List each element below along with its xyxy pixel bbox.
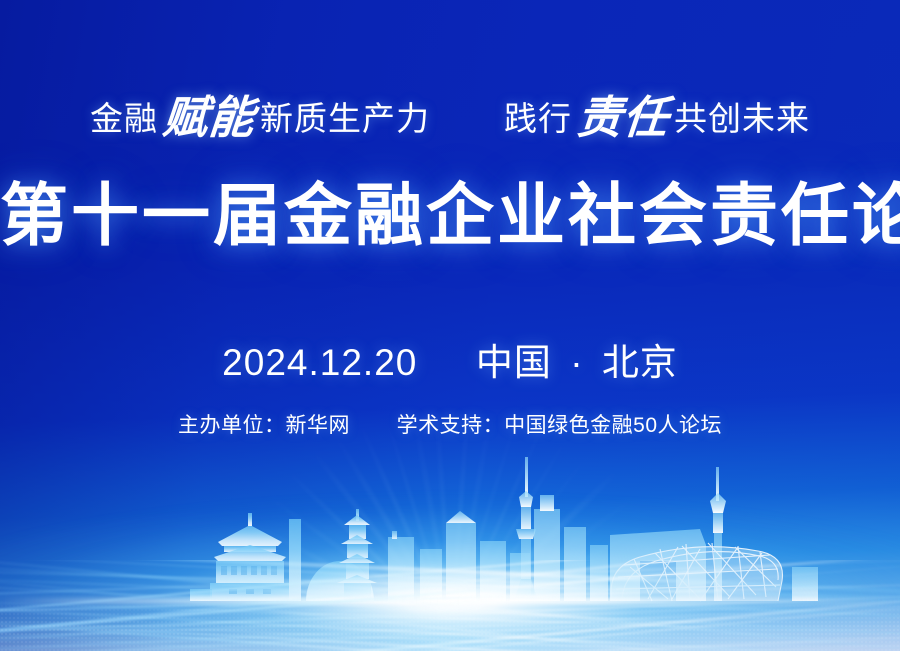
page-title: 第十一届金融企业社会责任论坛 (0, 181, 900, 252)
tagline-row: 金融 赋能 新质生产力 践行 责任 共创未来 (0, 92, 900, 137)
tagline-right-prefix: 践行 (504, 102, 572, 135)
organizer-line: 主办单位：新华网 学术支持：中国绿色金融50人论坛 (0, 409, 900, 439)
tagline-right-brush: 责任 (575, 95, 671, 140)
conference-poster: 金融 赋能 新质生产力 践行 责任 共创未来 第十一届金融企业社会责任论坛 20… (0, 0, 900, 651)
poster-content: 金融 赋能 新质生产力 践行 责任 共创未来 第十一届金融企业社会责任论坛 20… (0, 0, 900, 651)
event-country: 中国 (476, 342, 552, 383)
organizer-label: 主办单位：新华网 (178, 414, 350, 437)
event-date: 2024.12.20 (222, 342, 417, 383)
event-city: 北京 (602, 342, 678, 383)
date-location-line: 2024.12.20 中国 · 北京 (0, 332, 900, 386)
tagline-left-suffix: 新质生产力 (260, 102, 430, 135)
tagline-left-prefix: 金融 (90, 102, 158, 135)
academic-support-label: 学术支持：中国绿色金融50人论坛 (397, 414, 722, 437)
tagline-right: 践行 责任 共创未来 (504, 92, 810, 137)
tagline-left: 金融 赋能 新质生产力 (90, 92, 430, 137)
location-separator: · (570, 342, 583, 383)
tagline-right-suffix: 共创未来 (674, 102, 810, 135)
tagline-left-brush: 赋能 (161, 95, 257, 140)
